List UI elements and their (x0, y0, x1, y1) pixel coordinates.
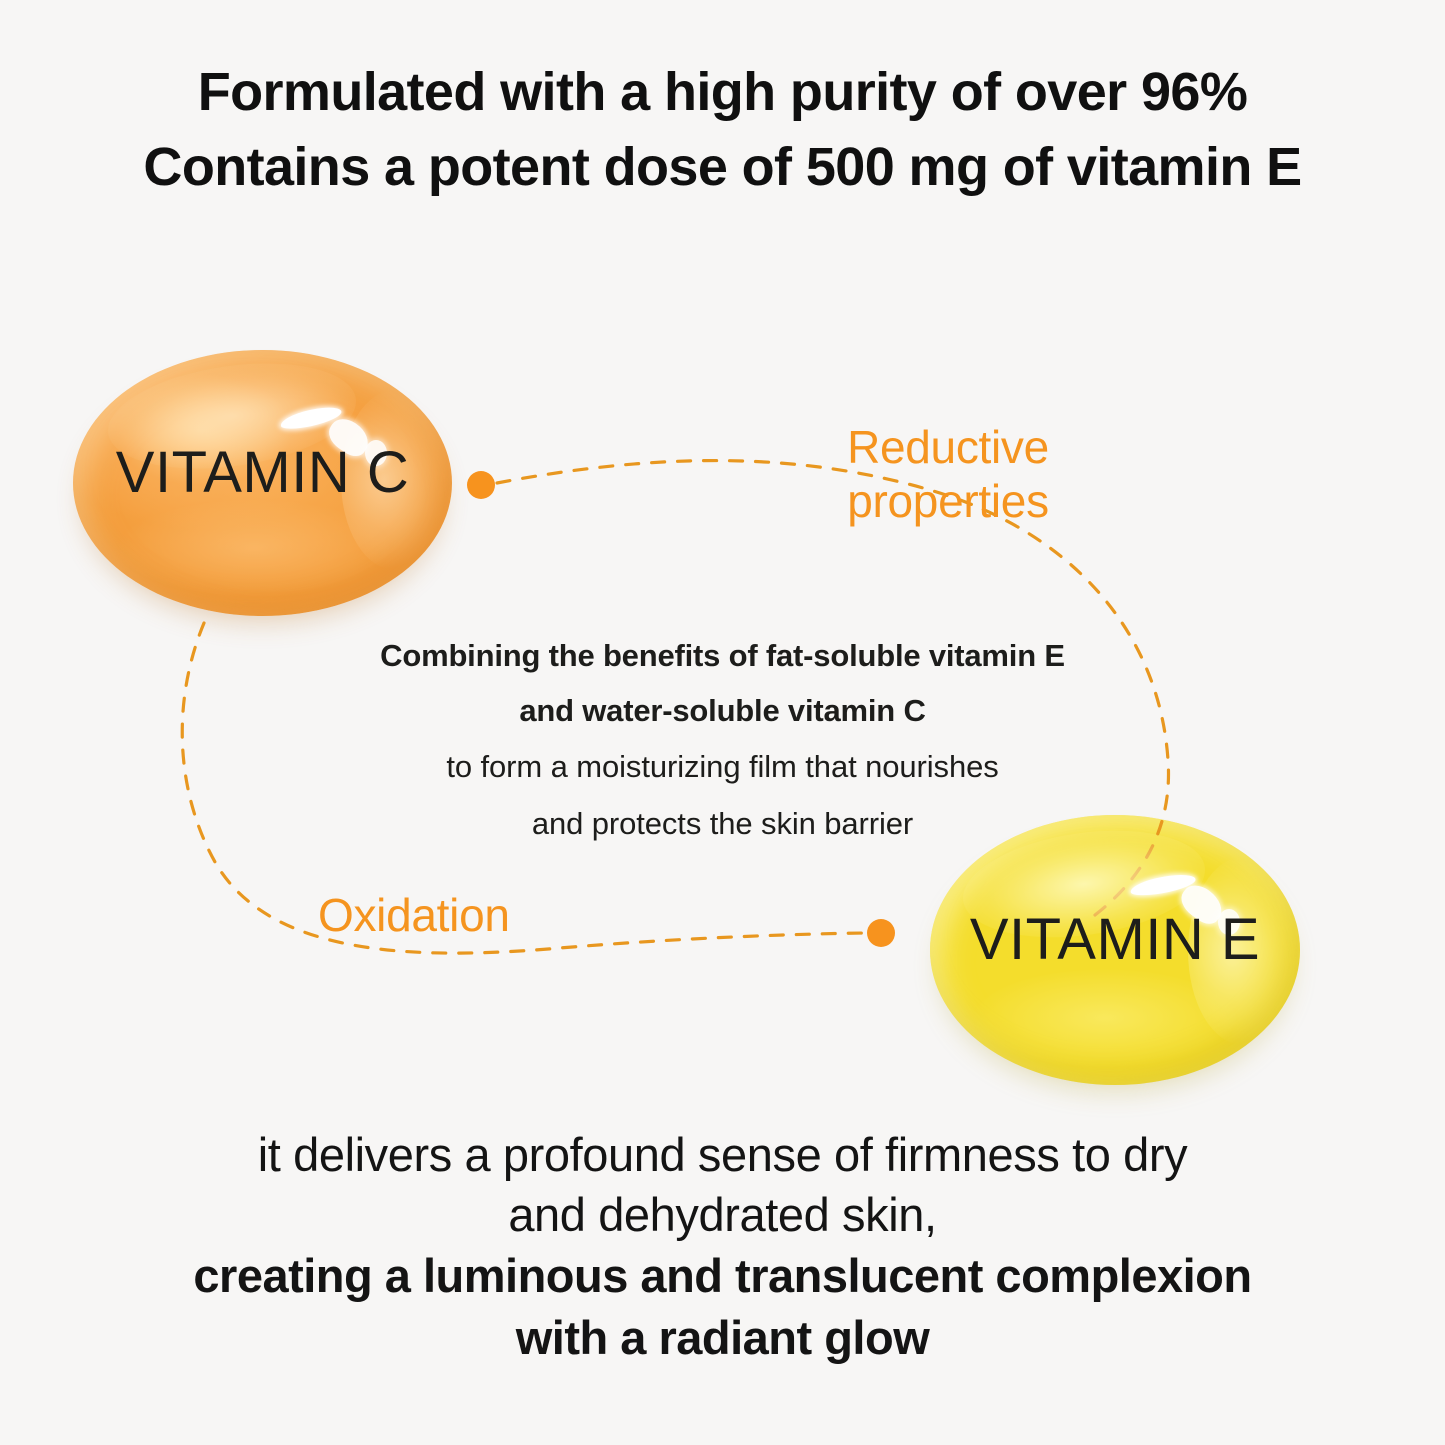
vitamin-e-capsule: VITAMIN E (930, 815, 1300, 1085)
headline-line-2: Contains a potent dose of 500 mg of vita… (0, 130, 1445, 205)
center-description-line-3: to form a moisturizing film that nourish… (0, 738, 1445, 795)
bottom-description: it delivers a profound sense of firmness… (0, 1125, 1445, 1369)
oxidation-end-dot (867, 919, 895, 947)
capsule-e-sheen-bottom (974, 969, 1236, 1067)
vitamin-c-label: VITAMIN C (73, 444, 452, 502)
bottom-description-line-1: it delivers a profound sense of firmness… (0, 1125, 1445, 1185)
center-description-line-1: Combining the benefits of fat-soluble vi… (0, 628, 1445, 683)
reductive-properties-line-1: Reductive (833, 420, 1063, 474)
vitamin-c-capsule: VITAMIN C (73, 350, 452, 616)
headline: Formulated with a high purity of over 96… (0, 55, 1445, 205)
capsule-c-sheen-bottom (119, 500, 389, 596)
infographic-page: Formulated with a high purity of over 96… (0, 0, 1445, 1445)
capsule-e-highlight-icon (1129, 871, 1197, 898)
reductive-properties-label: Reductive properties (833, 420, 1063, 528)
bottom-description-line-4: with a radiant glow (0, 1307, 1445, 1369)
bottom-description-line-2: and dehydrated skin, (0, 1185, 1445, 1245)
vitamin-e-label: VITAMIN E (930, 911, 1300, 969)
capsule-c-highlight-icon (279, 404, 343, 433)
reductive-start-dot (467, 471, 495, 499)
headline-line-1: Formulated with a high purity of over 96… (0, 55, 1445, 130)
oxidation-label: Oxidation (318, 888, 510, 942)
center-description-line-4: and protects the skin barrier (0, 795, 1445, 852)
center-description-line-2: and water-soluble vitamin C (0, 683, 1445, 738)
bottom-description-line-3: creating a luminous and translucent comp… (0, 1245, 1445, 1307)
reductive-properties-line-2: properties (833, 474, 1063, 528)
center-description: Combining the benefits of fat-soluble vi… (0, 628, 1445, 852)
